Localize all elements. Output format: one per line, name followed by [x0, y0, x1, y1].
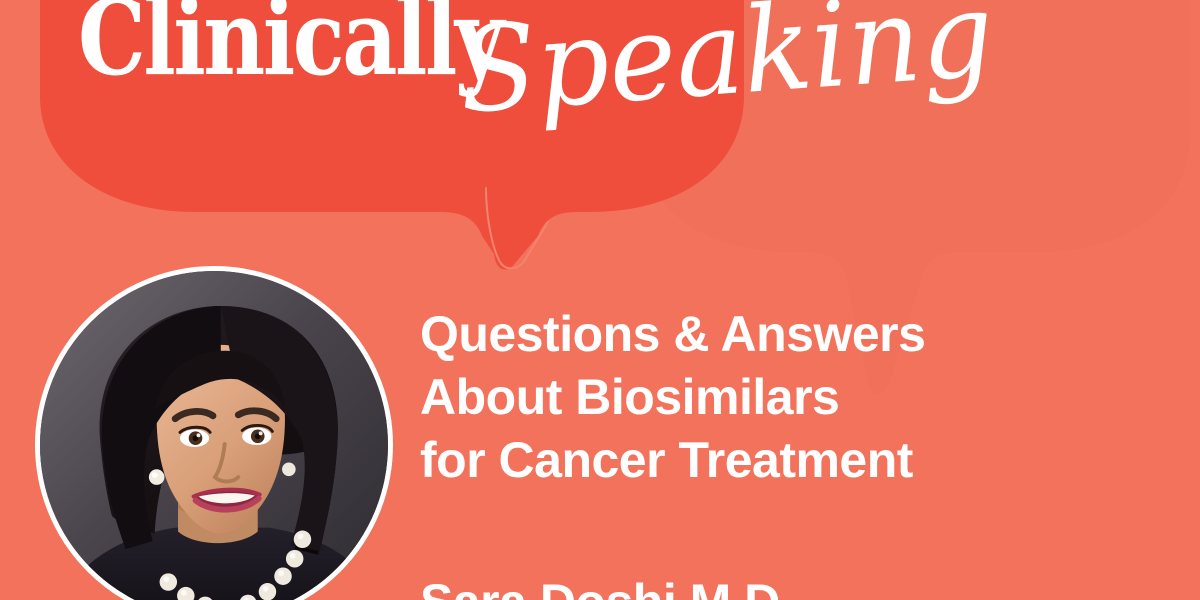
- speech-bubble-left-icon: [40, 0, 744, 270]
- headline-line-1: Questions & Answers: [420, 303, 1160, 366]
- headline-line-2: About Biosimilars: [420, 366, 1160, 429]
- headline-block: Questions & Answers About Biosimilars fo…: [420, 303, 1160, 492]
- headline-line-3: for Cancer Treatment: [420, 429, 1160, 492]
- presenter-name: Sara Doshi M.D.: [420, 571, 1160, 600]
- portrait-illustration: [40, 271, 388, 600]
- presenter-byline: Sara Doshi M.D.: [420, 571, 1160, 600]
- poster-canvas: Clinically Speaking: [0, 0, 1200, 600]
